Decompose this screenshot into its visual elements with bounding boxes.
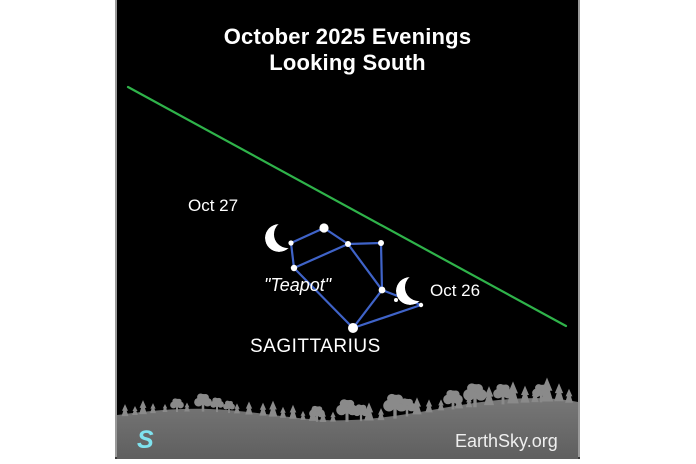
sky-panel: October 2025 Evenings Looking South Oct … <box>117 0 578 459</box>
constellation-line <box>353 305 421 328</box>
label-moon-oct27: Oct 27 <box>188 196 238 216</box>
tree-silhouette <box>289 405 297 419</box>
tree-silhouette <box>300 411 306 420</box>
tree-silhouette <box>554 383 564 401</box>
moon-crescent <box>265 224 293 252</box>
chart-title-line1: October 2025 Evenings <box>224 24 472 49</box>
panel-border-right <box>578 0 580 459</box>
tree-silhouette <box>132 406 138 415</box>
tree-silhouette <box>378 408 385 420</box>
tree-silhouette <box>139 400 147 414</box>
tree-silhouette <box>520 386 529 403</box>
constellation-line <box>348 244 382 290</box>
tree-silhouette <box>269 401 278 417</box>
tree-silhouette <box>150 403 156 413</box>
credit-earthsky: EarthSky.org <box>455 431 558 452</box>
constellation-line <box>294 244 348 268</box>
star-marker <box>394 298 398 302</box>
label-moon-oct26: Oct 26 <box>430 281 480 301</box>
label-teapot-asterism: "Teapot" <box>264 275 331 296</box>
tree-silhouette <box>259 403 266 416</box>
tree-silhouette <box>245 401 252 414</box>
tree-silhouette <box>162 404 167 412</box>
tree-silhouette <box>122 404 129 416</box>
constellation-line <box>381 243 382 290</box>
sky-chart-figure: October 2025 Evenings Looking South Oct … <box>0 0 696 464</box>
tree-silhouette <box>425 399 432 412</box>
chart-title-block: October 2025 Evenings Looking South <box>117 24 578 76</box>
star-marker <box>291 265 297 271</box>
moon-crescent <box>396 277 424 305</box>
chart-title-line2: Looking South <box>117 50 578 76</box>
star-marker <box>378 240 384 246</box>
constellation-line <box>291 228 324 243</box>
tree-silhouette <box>565 389 573 403</box>
compass-direction-south: S <box>137 426 154 455</box>
tree-silhouette <box>438 399 444 410</box>
constellation-line <box>291 243 294 268</box>
star-marker <box>345 241 351 247</box>
tree-silhouette <box>280 407 286 418</box>
star-marker <box>379 287 386 294</box>
tree-silhouette <box>234 403 240 413</box>
constellation-line <box>348 243 381 244</box>
star-marker <box>419 303 423 307</box>
star-marker <box>348 323 358 333</box>
star-marker <box>319 223 328 232</box>
tree-silhouette <box>184 402 190 411</box>
label-constellation-sagittarius: SAGITTARIUS <box>250 336 381 358</box>
tree-silhouette <box>330 412 336 422</box>
